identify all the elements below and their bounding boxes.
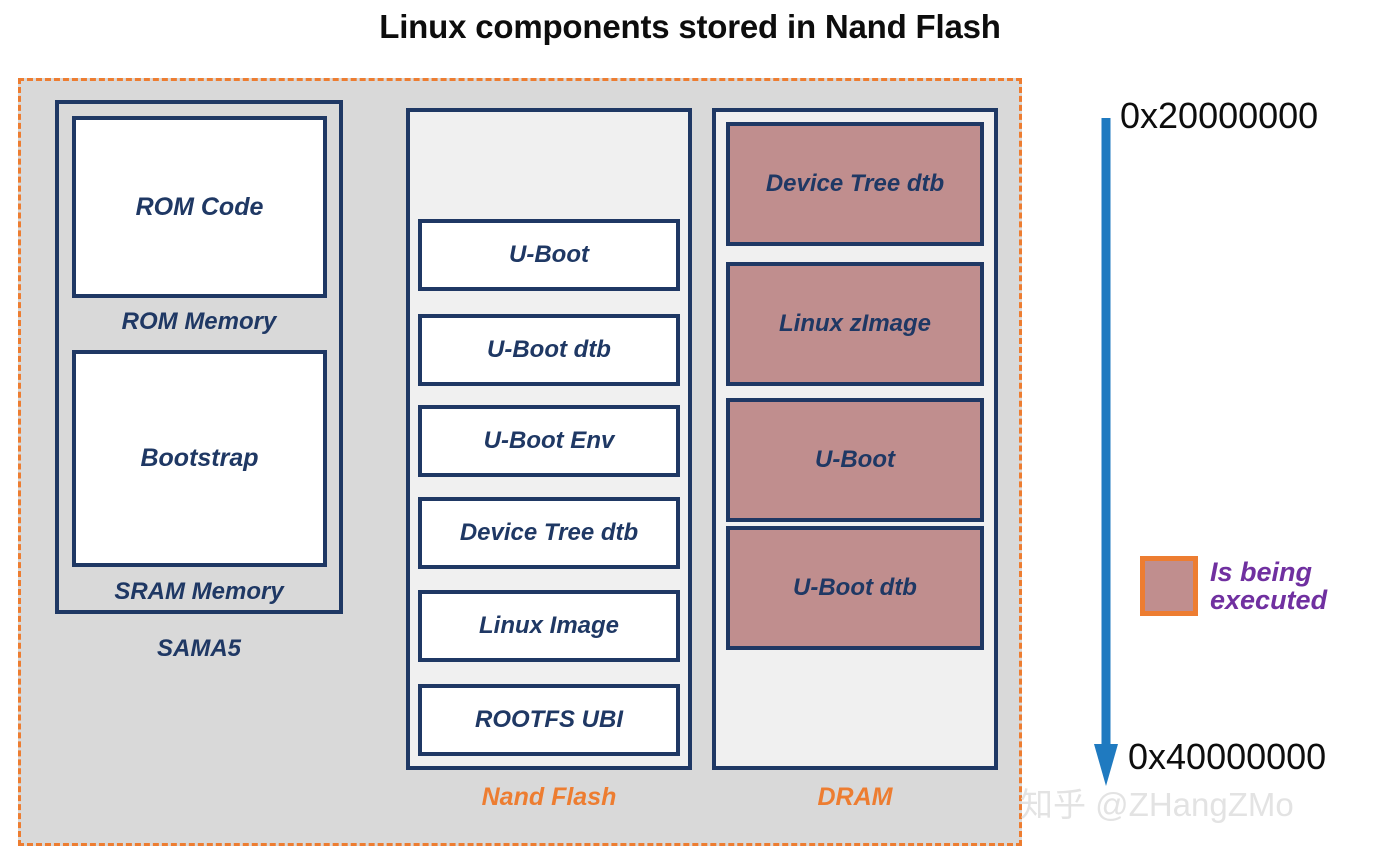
rom-memory-label: ROM Memory bbox=[55, 308, 343, 336]
rom-code-box: ROM Code bbox=[72, 116, 327, 298]
nand-item-linux-image: Linux Image bbox=[418, 590, 680, 662]
bootstrap-label: Bootstrap bbox=[140, 444, 258, 473]
nand-item-label: Device Tree dtb bbox=[460, 519, 638, 547]
rom-code-label: ROM Code bbox=[136, 193, 264, 222]
nand-item-device-tree-dtb: Device Tree dtb bbox=[418, 497, 680, 569]
sama5-label: SAMA5 bbox=[55, 635, 343, 663]
sram-memory-label: SRAM Memory bbox=[55, 578, 343, 606]
dram-item-u-boot: U-Boot bbox=[726, 398, 984, 522]
top-address-label: 0x20000000 bbox=[1120, 95, 1318, 137]
nand-item-u-boot-env: U-Boot Env bbox=[418, 405, 680, 477]
diagram-canvas: Linux components stored in Nand Flash RO… bbox=[0, 0, 1380, 864]
nand-flash-label: Nand Flash bbox=[406, 783, 692, 812]
dram-label: DRAM bbox=[712, 783, 998, 812]
nand-item-label: U-Boot Env bbox=[484, 427, 615, 455]
dram-item-label: Device Tree dtb bbox=[766, 170, 944, 198]
bottom-address-label: 0x40000000 bbox=[1128, 736, 1326, 778]
nand-item-label: U-Boot dtb bbox=[487, 336, 611, 364]
dram-item-label: U-Boot dtb bbox=[793, 574, 917, 602]
nand-item-rootfs-ubi: ROOTFS UBI bbox=[418, 684, 680, 756]
dram-item-label: U-Boot bbox=[815, 446, 895, 474]
dram-item-device-tree-dtb: Device Tree dtb bbox=[726, 122, 984, 246]
nand-item-label: U-Boot bbox=[509, 241, 589, 269]
dram-item-linux-zimage: Linux zImage bbox=[726, 262, 984, 386]
legend-label: Is being executed bbox=[1210, 558, 1380, 615]
legend-swatch-executed bbox=[1140, 556, 1198, 616]
dram-item-u-boot-dtb: U-Boot dtb bbox=[726, 526, 984, 650]
nand-item-u-boot: U-Boot bbox=[418, 219, 680, 291]
nand-item-label: ROOTFS UBI bbox=[475, 706, 623, 734]
page-title: Linux components stored in Nand Flash bbox=[0, 8, 1380, 46]
legend: Is being executed bbox=[1140, 556, 1380, 616]
bootstrap-box: Bootstrap bbox=[72, 350, 327, 567]
dram-item-label: Linux zImage bbox=[779, 310, 931, 338]
nand-item-u-boot-dtb: U-Boot dtb bbox=[418, 314, 680, 386]
address-direction-arrow bbox=[1094, 118, 1118, 786]
nand-item-label: Linux Image bbox=[479, 612, 619, 640]
watermark: 知乎 @ZHangZMo bbox=[1020, 778, 1294, 826]
